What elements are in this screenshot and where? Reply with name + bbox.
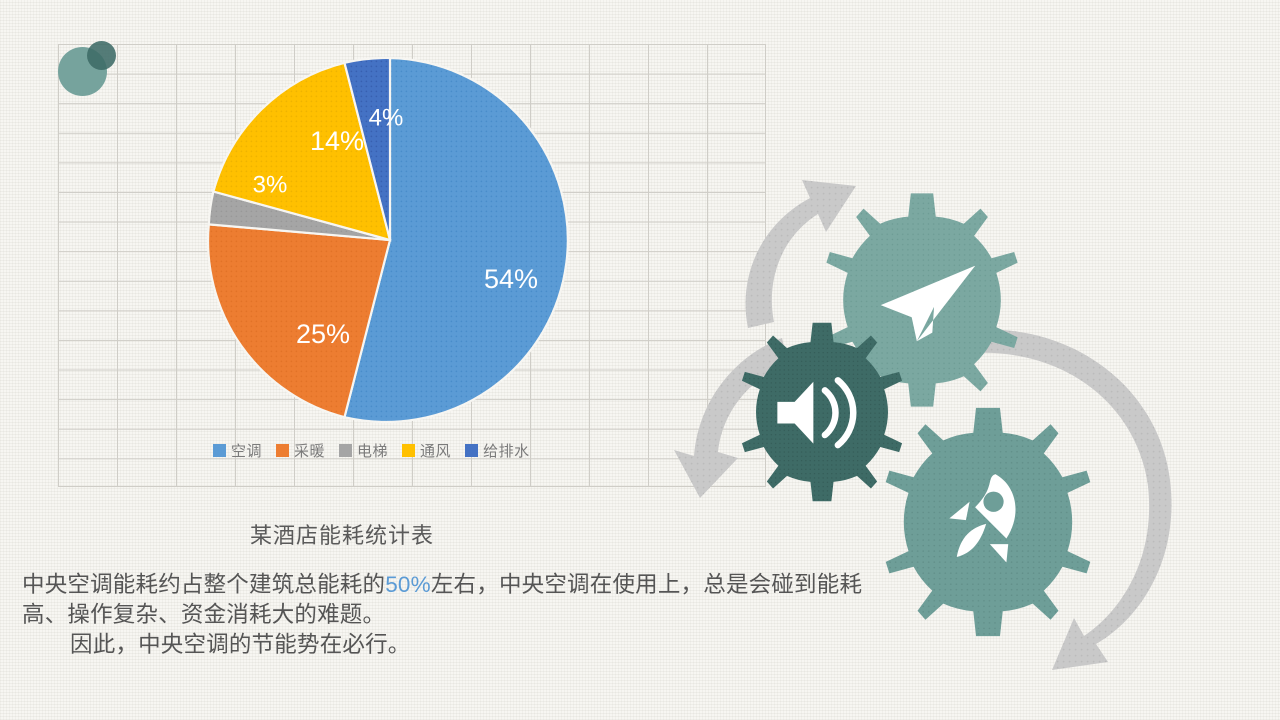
- pie-label-cainuan: 25%: [296, 319, 350, 349]
- legend-item-tongfeng[interactable]: 通风: [402, 440, 451, 461]
- legend-label-jipaishui: 给排水: [483, 440, 530, 461]
- legend-swatch-tongfeng: [402, 444, 415, 457]
- pie-label-dianti: 3%: [253, 171, 288, 198]
- legend-label-tongfeng: 通风: [420, 440, 451, 461]
- legend-swatch-kongtiao: [213, 444, 226, 457]
- body-text-part1: 中央空调能耗约占整个建筑总能耗的: [22, 572, 385, 597]
- overlapping-circles-logo: [58, 41, 113, 96]
- pie-chart-svg: 54% 25% 3% 14% 4%: [205, 55, 575, 425]
- logo-small-circle: [87, 41, 116, 70]
- pie-label-jipaishui: 4%: [369, 104, 404, 131]
- pie-chart: 54% 25% 3% 14% 4%: [205, 55, 575, 425]
- legend-label-dianti: 电梯: [357, 440, 388, 461]
- pie-label-kongtiao: 54%: [484, 264, 538, 294]
- legend-swatch-jipaishui: [465, 444, 478, 457]
- legend-swatch-dianti: [339, 444, 352, 457]
- legend-item-cainuan[interactable]: 采暖: [276, 440, 325, 461]
- legend-item-jipaishui[interactable]: 给排水: [465, 440, 530, 461]
- legend-label-kongtiao: 空调: [231, 440, 262, 461]
- pie-label-tongfeng: 14%: [310, 126, 364, 156]
- arrow-up-right-icon: [746, 180, 856, 328]
- chart-caption: 某酒店能耗统计表: [250, 518, 434, 550]
- legend-item-dianti[interactable]: 电梯: [339, 440, 388, 461]
- gear-rocket[interactable]: [886, 408, 1091, 636]
- gears-illustration: [660, 150, 1280, 680]
- legend-label-cainuan: 采暖: [294, 440, 325, 461]
- legend-swatch-cainuan: [276, 444, 289, 457]
- legend-item-kongtiao[interactable]: 空调: [213, 440, 262, 461]
- body-text-highlight: 50%: [385, 572, 431, 597]
- slide-canvas: 54% 25% 3% 14% 4% 空调 采暖 电梯 通风 给排水 某酒店: [0, 0, 1280, 720]
- chart-legend: 空调 采暖 电梯 通风 给排水: [213, 440, 530, 461]
